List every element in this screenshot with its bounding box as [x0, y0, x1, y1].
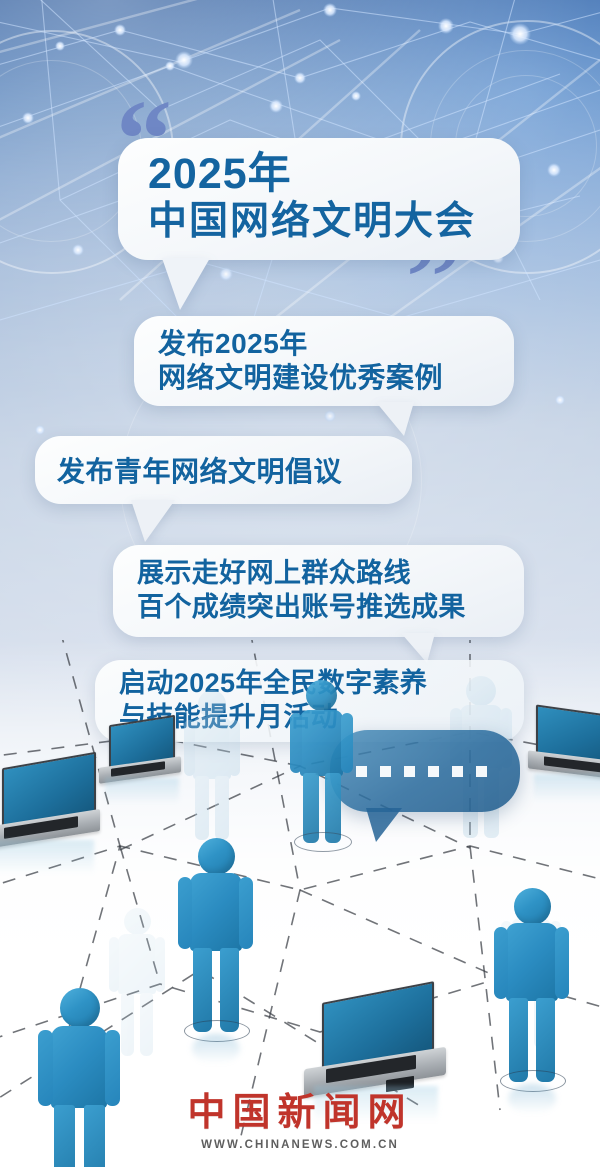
laptop-right [528, 710, 600, 788]
footer-logo: 中国新闻网 WWW.CHINANEWS.COM.CN [0, 1094, 600, 1151]
laptop-top-center [95, 720, 181, 790]
laptop-left [0, 760, 102, 856]
chinanews-logo-text: 中国新闻网 [0, 1094, 600, 1132]
person-figure-1 [176, 838, 254, 1038]
bubble-item-3-line-2: 百个成绩突出账号推选成果 [137, 592, 524, 624]
person-figure-2 [492, 888, 570, 1088]
title-bubble: 2025年 中国网络文明大会 [118, 138, 520, 260]
chat-bubble-tail [366, 808, 402, 842]
bubble-item-3-line-1: 展示走好网上群众路线 [137, 558, 524, 590]
ghost-figure-1 [182, 690, 242, 850]
bubble-item-1: 发布2025年 网络文明建设优秀案例 [134, 316, 514, 406]
title-line-1: 2025年 [148, 153, 520, 197]
bubble-item-2-tail [131, 500, 175, 542]
poster-root: “ ” 2025年 中国网络文明大会 发布2025年 网络文明建设优秀案例 发布… [0, 0, 600, 1167]
illustration-scene [0, 640, 600, 1167]
title-line-2: 中国网络文明大会 [148, 199, 520, 245]
chat-bubble-dots [356, 766, 487, 777]
laptop-bottom-center [300, 992, 450, 1108]
bubble-item-3: 展示走好网上群众路线 百个成绩突出账号推选成果 [113, 545, 524, 637]
bubble-item-1-line-2: 网络文明建设优秀案例 [158, 362, 514, 394]
bubble-item-2-line-1: 发布青年网络文明倡议 [57, 450, 412, 490]
chinanews-url: WWW.CHINANEWS.COM.CN [0, 1139, 600, 1151]
chat-bubble-graphic [330, 730, 520, 812]
title-bubble-tail [162, 258, 210, 310]
person-figure-4 [288, 680, 354, 850]
bubble-item-1-line-1: 发布2025年 [158, 328, 514, 360]
bubble-item-1-tail [376, 402, 414, 436]
bubble-item-2: 发布青年网络文明倡议 [35, 436, 412, 504]
